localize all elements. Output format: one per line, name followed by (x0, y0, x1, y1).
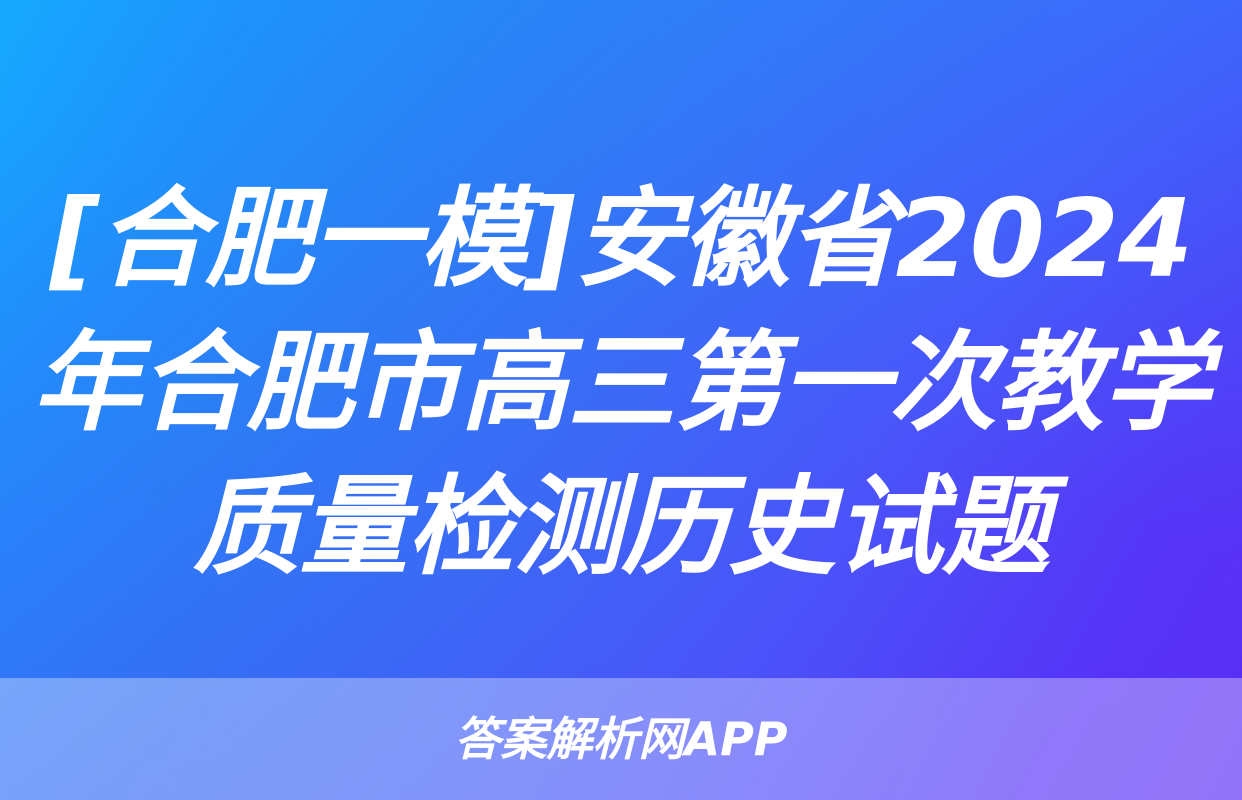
title-line-2: 年合肥市高三第一次教学 (28, 312, 1214, 456)
footer-watermark-band: 答案解析网APP (0, 678, 1242, 800)
title-line-1: [合肥一模]安徽省2024 (28, 168, 1214, 312)
poster-canvas: [合肥一模]安徽省2024 年合肥市高三第一次教学 质量检测历史试题 答案解析网… (0, 0, 1242, 800)
page-title: [合肥一模]安徽省2024 年合肥市高三第一次教学 质量检测历史试题 (0, 168, 1242, 601)
title-line-3: 质量检测历史试题 (28, 456, 1214, 600)
watermark-text: 答案解析网APP (454, 716, 787, 762)
